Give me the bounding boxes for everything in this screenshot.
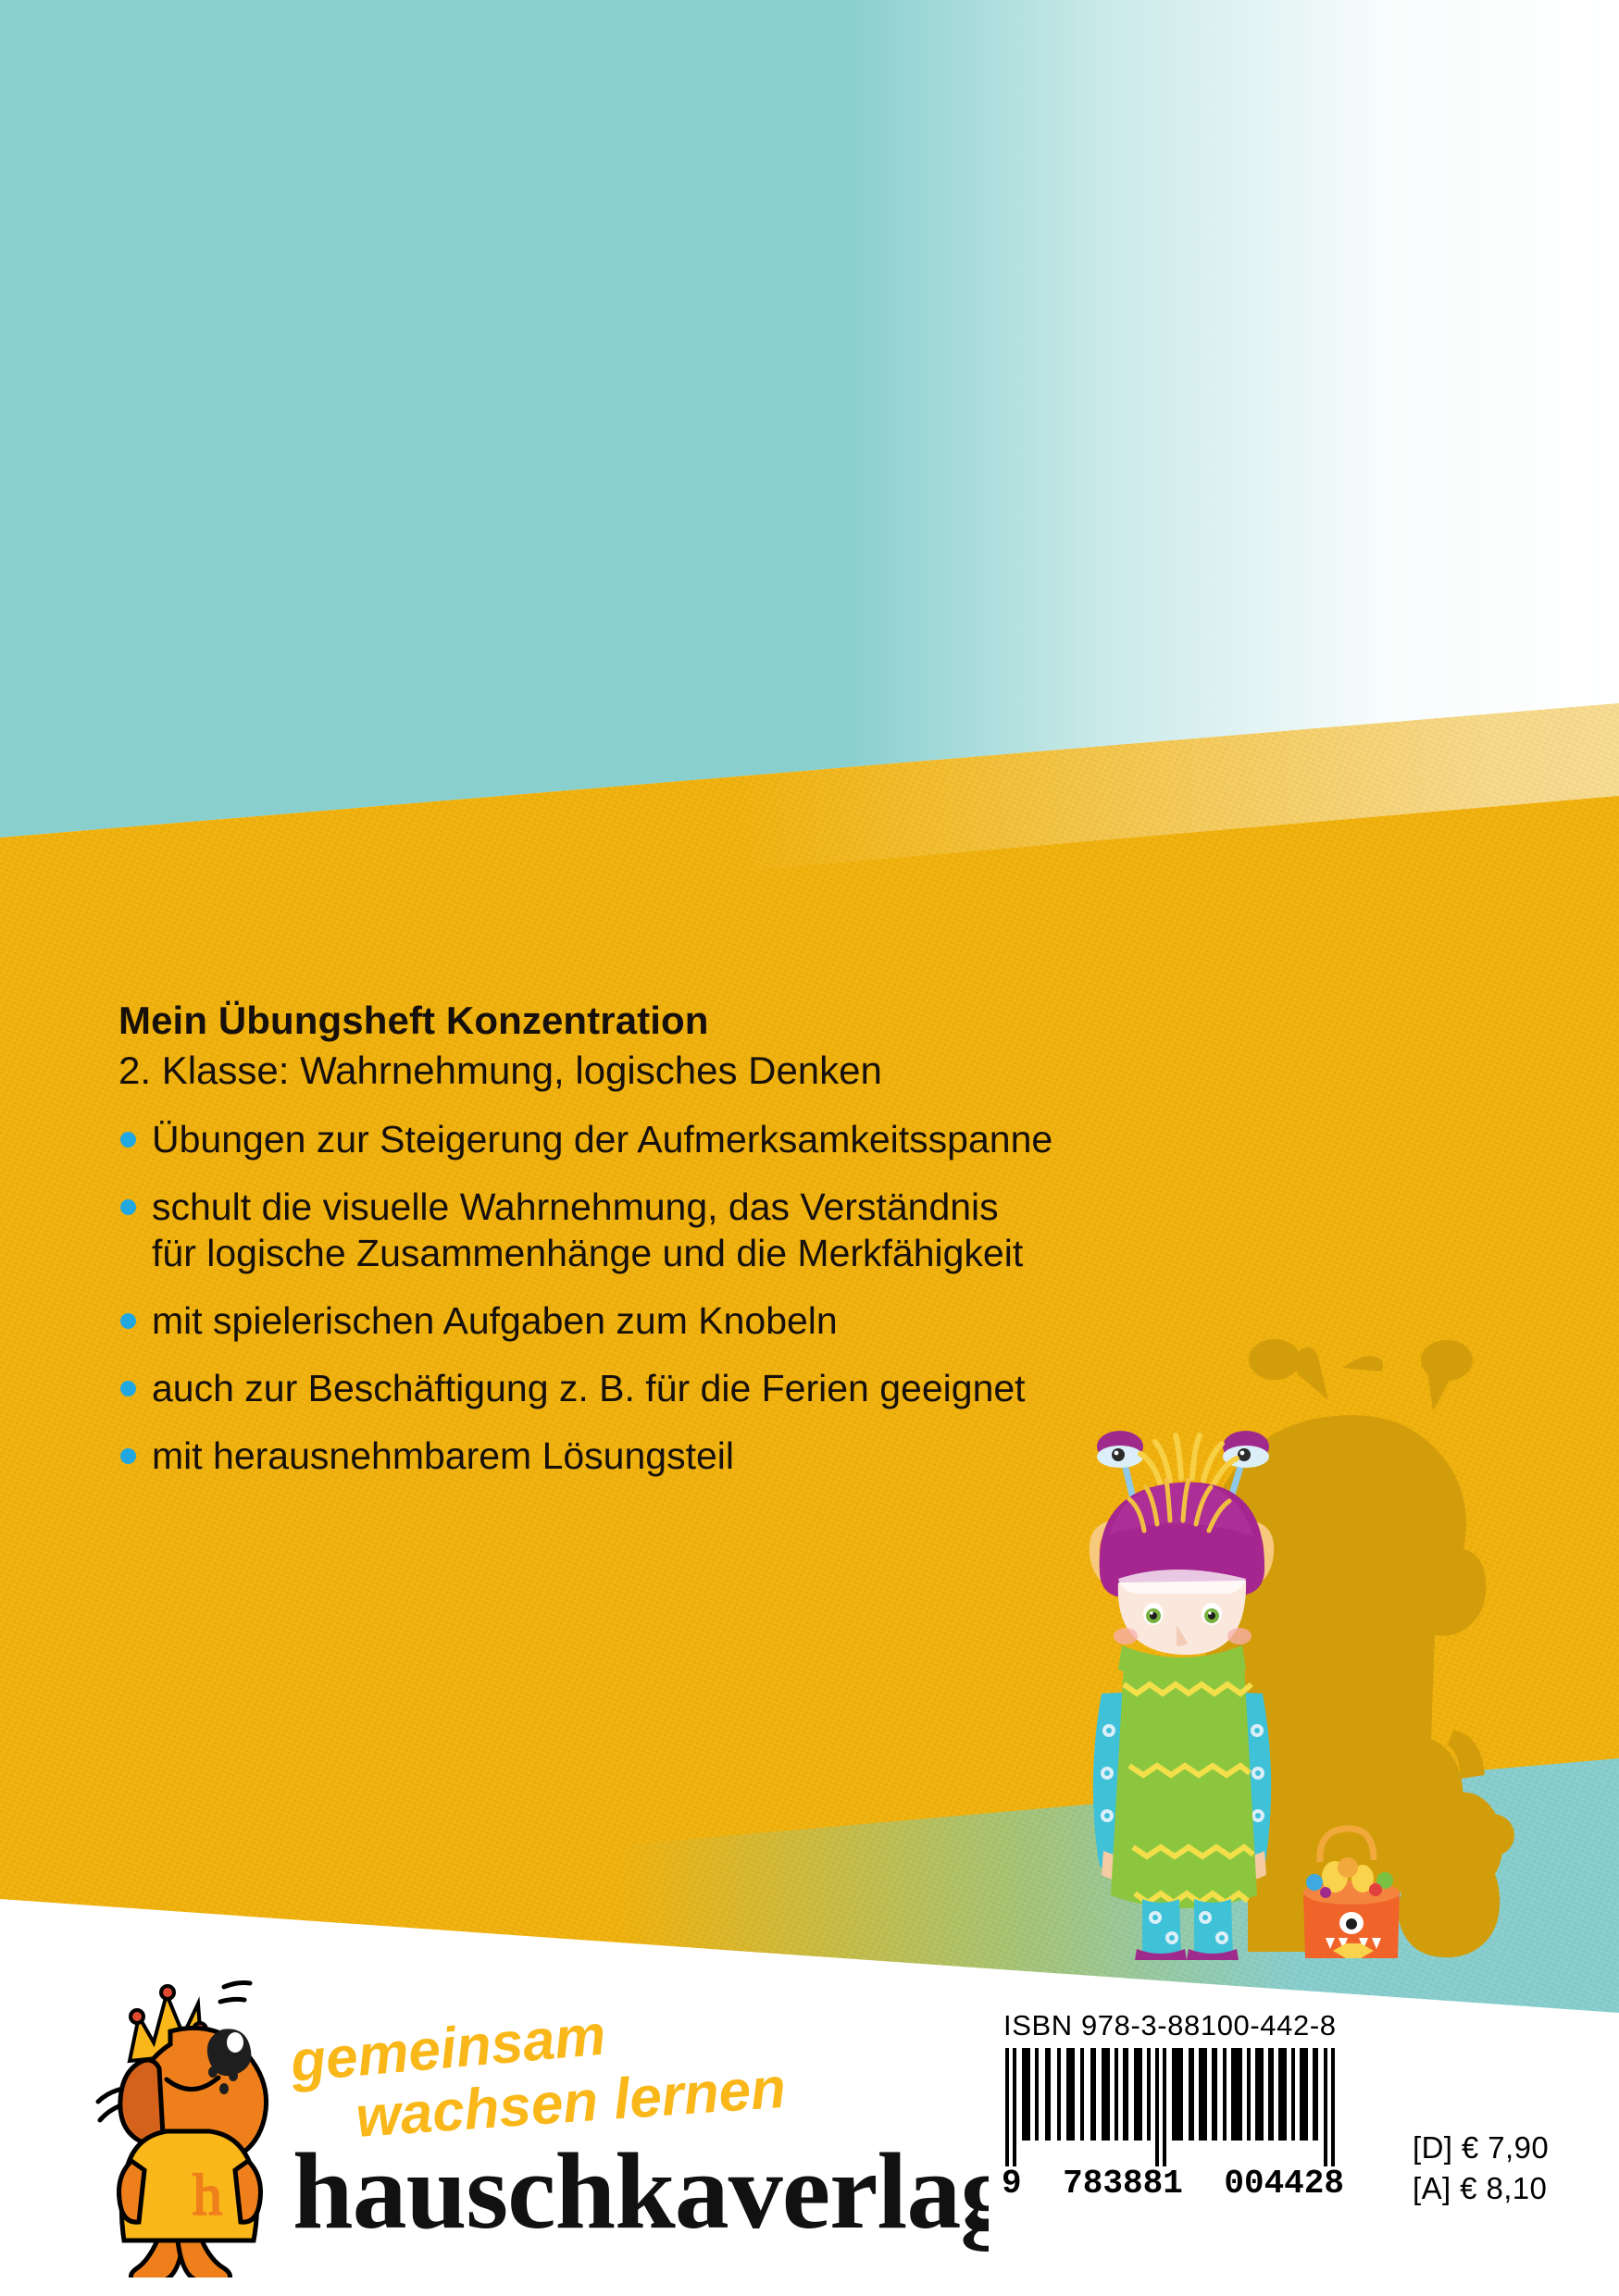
bullet-dot-icon [120,1199,136,1215]
list-item: schult die visuelle Wahrnehmung, das Ver… [118,1184,1257,1276]
right-leg [1194,1899,1233,1958]
costume-body [1111,1664,1257,1908]
left-leg [1142,1899,1181,1958]
ean-barcode: 9 783881 004428 [1002,2048,1344,2203]
bullet-dot-icon [120,1132,136,1148]
isbn-block: ISBN 978-3-88100-442-8 [1002,2009,1575,2209]
price-block: [D] € 7,90 [A] € 8,10 [1413,2048,1549,2209]
svg-text:h: h [193,2162,222,2228]
book-title: Mein Übungsheft Konzentration [118,998,1257,1044]
list-item: mit herausnehmbarem Lösungsteil [118,1433,1257,1479]
price-germany: [D] € 7,90 [1413,2128,1549,2168]
mascot-dog-icon: h [98,1983,267,2278]
list-item-line1: mit herausnehmbarem Lösungsteil [152,1434,734,1477]
publisher-logo: h gemeinsam wachsen lernen hauschkaverla… [81,1972,1007,2277]
blurb-block: Mein Übungsheft Konzentration 2. Klasse:… [118,998,1257,1500]
list-item-line1: Übungen zur Steigerung der Aufmerksamkei… [152,1118,1052,1160]
barcode-digit-group-right: 004428 [1224,2165,1344,2203]
barcode-digit-group-mid: 783881 [1063,2165,1183,2203]
list-item-line2: für logische Zusammenhänge und die Merkf… [152,1230,1257,1276]
list-item: auch zur Beschäftigung z. B. für die Fer… [118,1365,1257,1411]
bullet-dot-icon [120,1381,136,1396]
list-item-line1: mit spielerischen Aufgaben zum Knobeln [152,1299,838,1342]
logo-tagline: gemeinsam wachsen lernen [287,2003,788,2149]
list-item-line1: schult die visuelle Wahrnehmung, das Ver… [152,1185,999,1228]
list-item-line1: auch zur Beschäftigung z. B. für die Fer… [152,1367,1026,1409]
bullet-dot-icon [120,1313,136,1329]
isbn-number: ISBN 978-3-88100-442-8 [1003,2009,1575,2042]
bullet-dot-icon [120,1448,136,1464]
barcode-digit-group-left: 9 [1002,2165,1022,2203]
publisher-wordmark: hauschkaverlag [293,2130,989,2252]
list-item: mit spielerischen Aufgaben zum Knobeln [118,1297,1257,1344]
list-item: Übungen zur Steigerung der Aufmerksamkei… [118,1116,1257,1162]
feature-list: Übungen zur Steigerung der Aufmerksamkei… [118,1116,1257,1479]
cover-footer: h gemeinsam wachsen lernen hauschkaverla… [0,1963,1619,2296]
price-austria: [A] € 8,10 [1413,2168,1549,2209]
book-subtitle: 2. Klasse: Wahrnehmung, logisches Denken [118,1048,1257,1094]
book-back-cover: Mein Übungsheft Konzentration 2. Klasse:… [0,0,1619,2296]
